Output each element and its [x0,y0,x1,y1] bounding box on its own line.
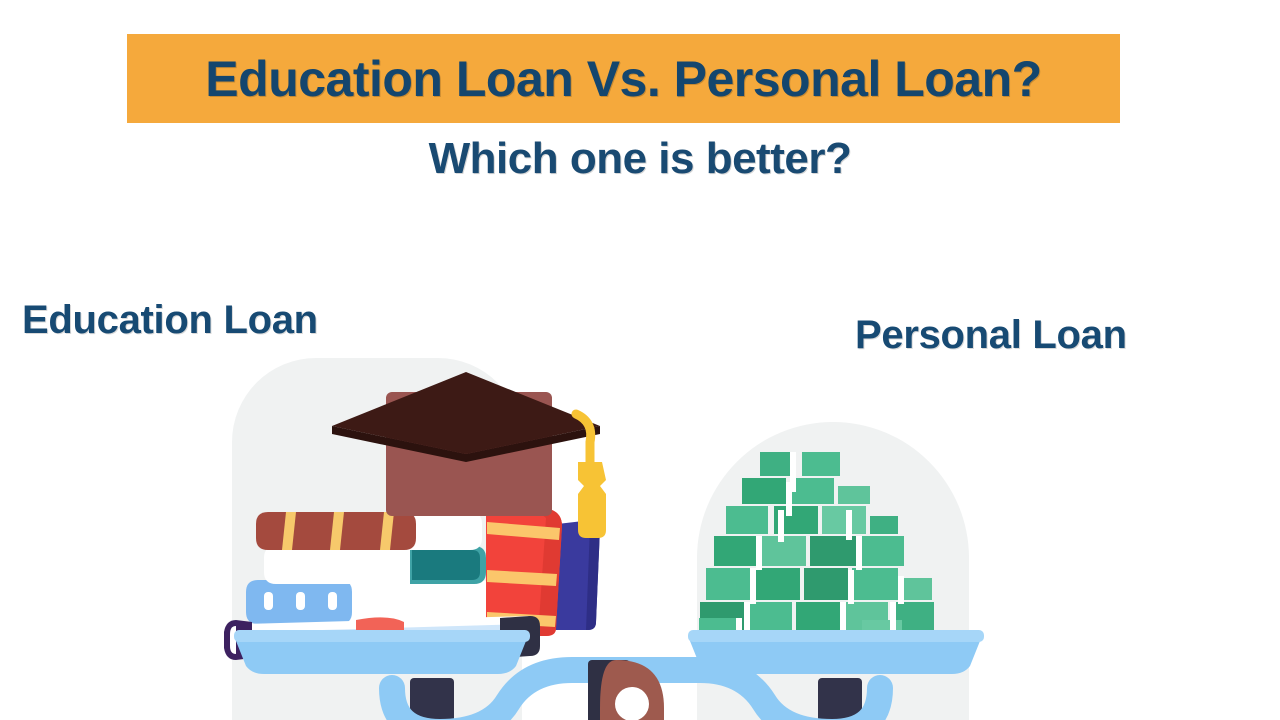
right-hanger-block [818,678,862,720]
teal-book-icon [264,546,486,584]
left-hanger-block [410,678,454,720]
illustration-artwork [0,330,1280,720]
brown-book-icon [256,512,482,550]
title-banner: Education Loan Vs. Personal Loan? [127,34,1120,123]
page-title: Education Loan Vs. Personal Loan? [205,54,1041,104]
infographic-canvas: Education Loan Vs. Personal Loan? Which … [0,0,1280,720]
money-stacks-icon [699,452,934,636]
balance-scale-illustration [0,330,1280,720]
blue-book-icon [246,580,492,624]
page-subtitle: Which one is better? [0,134,1280,183]
red-book-icon [486,496,562,636]
balance-scale-icon [234,630,984,720]
